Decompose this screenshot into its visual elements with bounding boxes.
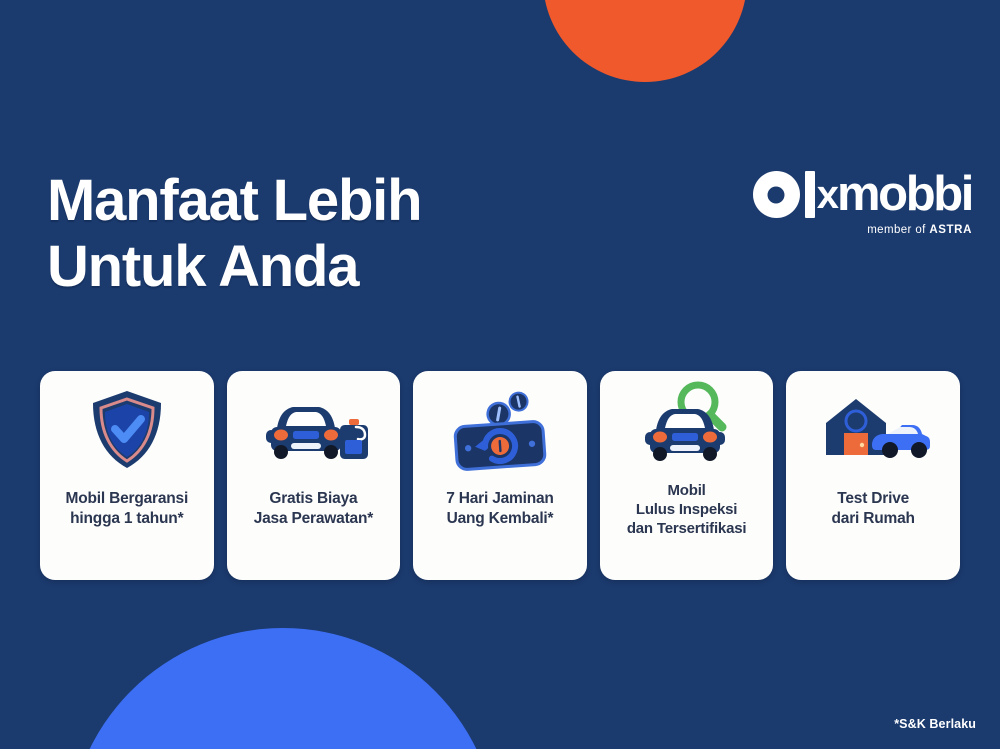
- benefit-card-warranty[interactable]: Mobil Bergaransi hingga 1 tahun*: [40, 371, 214, 580]
- car-oil-service-icon: [227, 371, 401, 489]
- benefit-card-list: Mobil Bergaransi hingga 1 tahun*: [40, 371, 960, 580]
- page-title: Manfaat Lebih Untuk Anda: [47, 168, 421, 299]
- benefit-card-free-service[interactable]: Gratis Biaya Jasa Perawatan*: [227, 371, 401, 580]
- benefit-card-label: 7 Hari Jaminan Uang Kembali*: [440, 489, 559, 529]
- money-back-icon: [413, 371, 587, 489]
- home-test-drive-icon: [786, 371, 960, 489]
- logo-o-icon: [753, 171, 800, 218]
- benefit-card-label: Mobil Bergaransi hingga 1 tahun*: [60, 489, 195, 529]
- logo-tagline: member of ASTRA: [753, 224, 972, 236]
- logo-l-icon: [805, 171, 815, 218]
- benefit-card-inspection[interactable]: Mobil Lulus Inspeksi dan Tersertifikasi: [600, 371, 774, 580]
- brand-logo: x mobbi member of ASTRA: [753, 170, 972, 236]
- benefit-card-money-back[interactable]: 7 Hari Jaminan Uang Kembali*: [413, 371, 587, 580]
- blue-circle-decoration: [68, 628, 498, 749]
- car-inspection-magnifier-icon: [600, 371, 774, 481]
- logo-tagline-brand: ASTRA: [929, 224, 972, 236]
- logo-x-letter: x: [817, 175, 837, 215]
- benefit-card-label: Gratis Biaya Jasa Perawatan*: [248, 489, 379, 529]
- terms-footnote: *S&K Berlaku: [894, 717, 976, 731]
- benefit-card-label: Test Drive dari Rumah: [826, 489, 921, 529]
- benefit-card-label: Mobil Lulus Inspeksi dan Tersertifikasi: [621, 481, 753, 539]
- logo-tagline-prefix: member of: [867, 224, 929, 236]
- logo-mark: x mobbi: [753, 170, 972, 219]
- benefit-card-home-test-drive[interactable]: Test Drive dari Rumah: [786, 371, 960, 580]
- promo-banner: Manfaat Lebih Untuk Anda x mobbi member …: [0, 0, 1000, 749]
- orange-circle-decoration: [543, 0, 747, 82]
- shield-check-icon: [40, 371, 214, 489]
- logo-wordmark: mobbi: [837, 170, 972, 219]
